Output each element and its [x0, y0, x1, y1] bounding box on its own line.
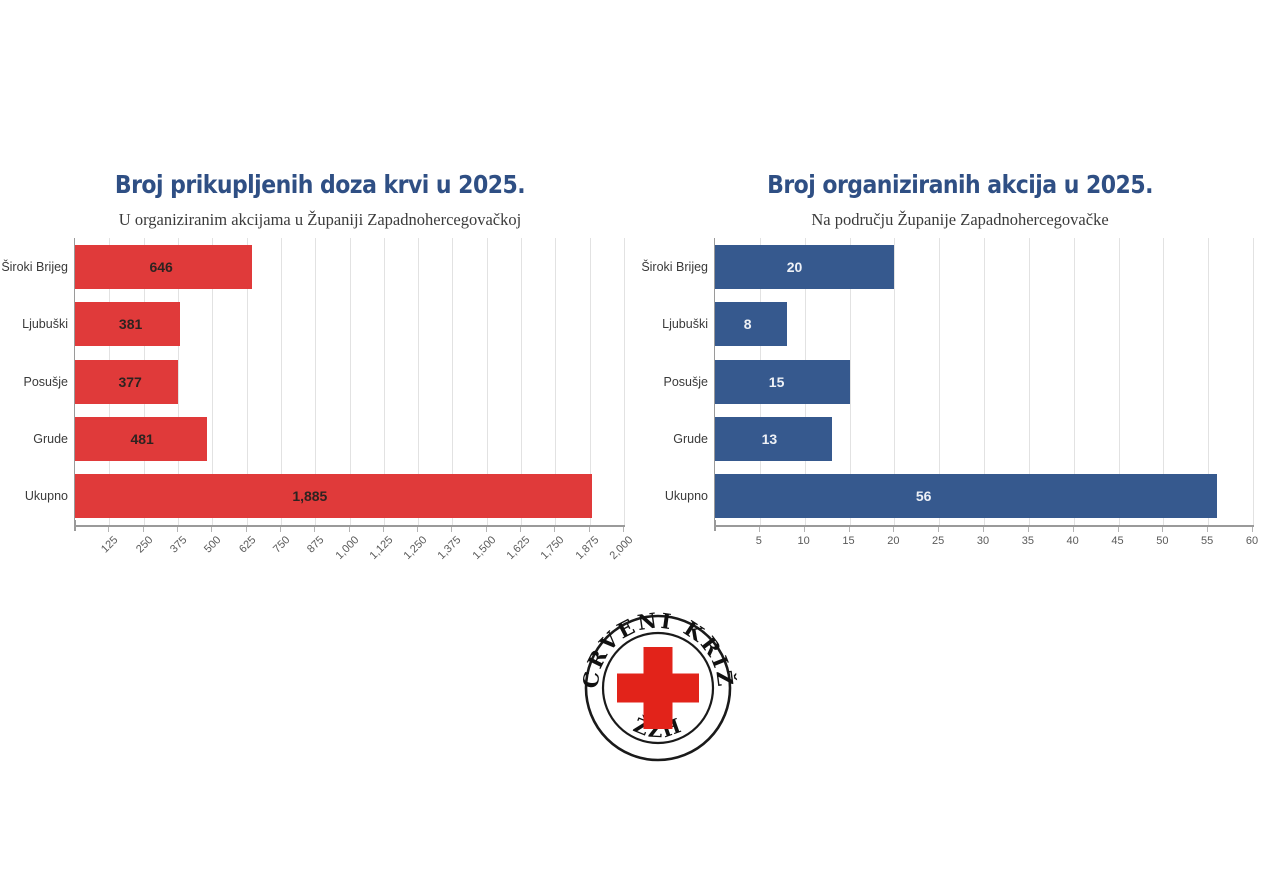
axis-tick-label: 250 — [123, 534, 156, 567]
axis-tick-label: 55 — [1201, 535, 1213, 547]
axis-tick — [211, 527, 212, 532]
axis-tick — [623, 527, 624, 532]
bar-value-label: 8 — [744, 316, 752, 332]
bars-container: 208151356 — [714, 238, 1252, 525]
axis-tick-label: 40 — [1067, 535, 1079, 547]
axis-tick-label: 60 — [1246, 535, 1258, 547]
bar-value-label: 13 — [762, 431, 778, 447]
category-label: Posušje — [664, 375, 708, 389]
chart-title: Broj organiziranih akcija u 2025. — [678, 170, 1241, 200]
axis-tick — [983, 527, 984, 532]
category-label: Ukupno — [665, 489, 708, 503]
axis-tick — [1073, 527, 1074, 532]
chart-panel-actions: Broj organiziranih akcija u 2025. Na pod… — [640, 160, 1280, 570]
category-label: Široki Brijeg — [1, 260, 68, 274]
axis-tick-label: 500 — [191, 534, 224, 567]
axis-origin-tick — [714, 520, 716, 531]
category-label: Posušje — [24, 375, 68, 389]
bar: 15 — [715, 360, 850, 404]
axis-tick-label: 1,125 — [363, 534, 396, 567]
bar-value-label: 20 — [787, 259, 803, 275]
axis-tick-label: 45 — [1111, 535, 1123, 547]
bars-container: 6463813774811,885 — [74, 238, 623, 525]
axis-tick-label: 15 — [842, 535, 854, 547]
axis-tick-label: 375 — [157, 534, 190, 567]
bar: 20 — [715, 245, 894, 289]
axis-tick — [893, 527, 894, 532]
axis-tick — [451, 527, 452, 532]
axis-tick-label: 1,000 — [328, 534, 361, 567]
axis-tick — [804, 527, 805, 532]
axis-tick-label: 1,250 — [397, 534, 430, 567]
gridline — [624, 238, 625, 525]
bar-value-label: 646 — [149, 259, 172, 275]
axis-tick-label: 125 — [88, 534, 121, 567]
gridline — [1253, 238, 1254, 525]
axis-tick — [1118, 527, 1119, 532]
axis-tick-label: 10 — [798, 535, 810, 547]
bar: 646 — [75, 245, 252, 289]
axis-tick — [143, 527, 144, 532]
bar-value-label: 481 — [130, 431, 153, 447]
axis-tick-label: 35 — [1022, 535, 1034, 547]
bar-value-label: 1,885 — [292, 488, 327, 504]
axis-tick — [759, 527, 760, 532]
category-label: Ukupno — [25, 489, 68, 503]
axis-tick — [349, 527, 350, 532]
axis-tick — [589, 527, 590, 532]
bar: 1,885 — [75, 474, 592, 518]
axis-tick — [486, 527, 487, 532]
axis-tick-label: 1,625 — [500, 534, 533, 567]
axis-tick — [1162, 527, 1163, 532]
axis-tick — [938, 527, 939, 532]
x-axis-line — [74, 525, 625, 527]
bar: 13 — [715, 417, 832, 461]
axis-tick — [383, 527, 384, 532]
axis-tick-label: 1,750 — [534, 534, 567, 567]
axis-tick — [246, 527, 247, 532]
axis-tick — [280, 527, 281, 532]
category-label: Ljubuški — [662, 317, 708, 331]
axis-tick-label: 875 — [294, 534, 327, 567]
bar: 8 — [715, 302, 787, 346]
axis-tick-label: 1,375 — [431, 534, 464, 567]
x-axis-line — [714, 525, 1254, 527]
axis-tick — [1028, 527, 1029, 532]
chart-title: Broj prikupljenih doza krvi u 2025. — [38, 170, 601, 200]
axis-tick-label: 30 — [977, 535, 989, 547]
category-label: Grude — [33, 432, 68, 446]
bar-value-label: 56 — [916, 488, 932, 504]
category-label: Grude — [673, 432, 708, 446]
category-label: Ljubuški — [22, 317, 68, 331]
category-label: Široki Brijeg — [641, 260, 708, 274]
chart-panel-blood-doses: Broj prikupljenih doza krvi u 2025. U or… — [0, 160, 640, 570]
chart-subtitle: Na području Županije Zapadnohercegovačke — [640, 210, 1280, 230]
axis-tick-label: 20 — [887, 535, 899, 547]
plot-area-blood-doses: Široki BrijegLjubuškiPosušjeGrudeUkupno … — [0, 238, 640, 568]
axis-tick — [1252, 527, 1253, 532]
axis-tick-label: 1,875 — [569, 534, 602, 567]
plot-area-actions: Široki BrijegLjubuškiPosušjeGrudeUkupno … — [640, 238, 1280, 568]
bar: 56 — [715, 474, 1217, 518]
axis-tick-label: 750 — [260, 534, 293, 567]
red-cross-emblem-icon: CRVENI KRIŽ ŽZH — [577, 607, 739, 769]
bar-value-label: 377 — [118, 374, 141, 390]
axis-tick-label: 50 — [1156, 535, 1168, 547]
axis-tick — [849, 527, 850, 532]
axis-tick — [177, 527, 178, 532]
axis-tick-label: 2,000 — [603, 534, 636, 567]
axis-tick — [417, 527, 418, 532]
axis-tick-label: 5 — [756, 535, 762, 547]
axis-tick-label: 1,500 — [466, 534, 499, 567]
bar-value-label: 15 — [769, 374, 785, 390]
bar: 381 — [75, 302, 180, 346]
axis-tick — [520, 527, 521, 532]
axis-tick-label: 625 — [226, 534, 259, 567]
axis-tick — [554, 527, 555, 532]
axis-tick — [1207, 527, 1208, 532]
bar: 377 — [75, 360, 178, 404]
red-cross-logo: CRVENI KRIŽ ŽZH — [577, 607, 739, 769]
bar: 481 — [75, 417, 207, 461]
chart-subtitle: U organiziranim akcijama u Županiji Zapa… — [0, 210, 640, 230]
axis-tick — [108, 527, 109, 532]
bar-value-label: 381 — [119, 316, 142, 332]
axis-tick — [314, 527, 315, 532]
axis-tick-label: 25 — [932, 535, 944, 547]
axis-origin-tick — [74, 520, 76, 531]
